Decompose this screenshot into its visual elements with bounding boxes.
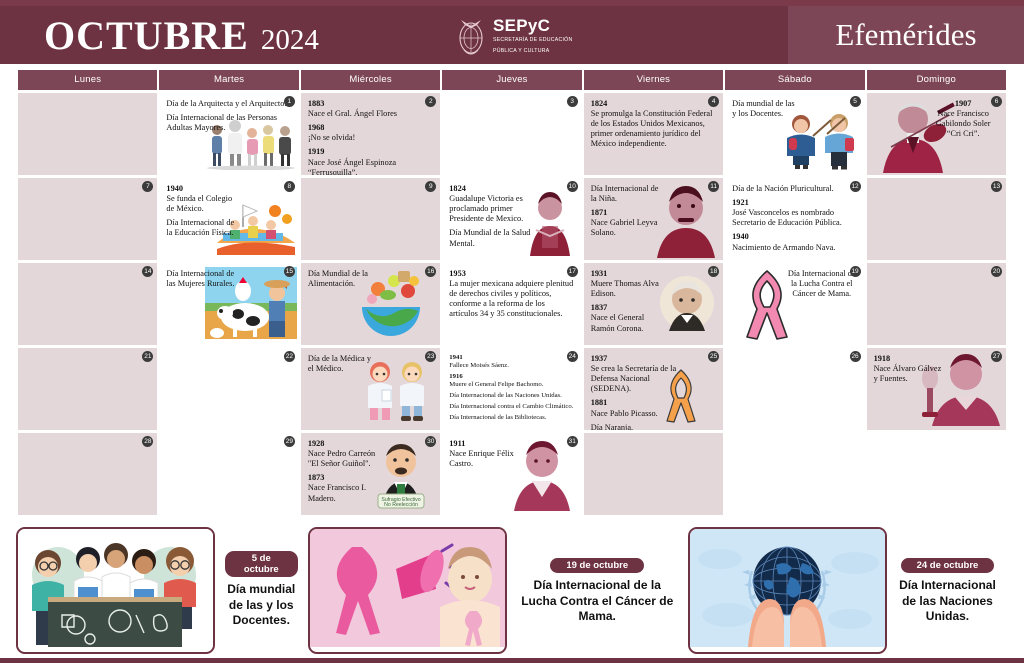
day-events-list: Día Internacional de las Mujeres Rurales…	[166, 269, 234, 289]
day-number-badge: 9	[425, 181, 436, 192]
event-text: Nace el General Ramón Corona.	[591, 313, 659, 333]
calendar-day-cell-19[interactable]: 19 Día Internacional de la Lucha Contra …	[725, 263, 864, 345]
day-number-badge: 8	[284, 181, 295, 192]
day-event: 1883Nace el Gral. Ángel Flores	[308, 99, 432, 119]
banner-date-pill: 5 de octubre	[225, 551, 298, 577]
logo-acronym: SEPyC	[493, 17, 572, 34]
calendar-day-cell-31[interactable]: 31 1911Nace Enrique Félix Castro.	[442, 433, 581, 515]
calendar-week-row: 1415 Día Internacional de las Mujeres Ru…	[18, 263, 1006, 345]
calendar-week-row: 282930 Sufragio Efectivo No Reelección19…	[18, 433, 1006, 515]
event-text: Día Naranja.	[591, 423, 681, 430]
calendar-day-cell-18[interactable]: 18 1931Muere Thomas Alva Edison.1837Nace…	[584, 263, 723, 345]
day-number-badge: 1	[284, 96, 295, 107]
day-number-badge: 3	[567, 96, 578, 107]
calendar-day-cell-8[interactable]: 8 1940Se funda el Colegio de México.Día …	[159, 178, 298, 260]
day-event: 1881Nace Pablo Picasso.	[591, 398, 681, 418]
calendar-day-cell-12[interactable]: 12Día de la Nación Pluricultural.1921Jos…	[725, 178, 864, 260]
event-text: Día de la Arquitecta y el Arquitecto.	[166, 99, 290, 109]
calendar-day-cell-13[interactable]: 13	[867, 178, 1006, 260]
event-year: 1953	[449, 269, 573, 279]
day-number-badge: 29	[284, 436, 295, 447]
breast-cancer-awareness-photo-image	[308, 527, 507, 654]
event-text: La mujer mexicana adquiere plenitud de d…	[449, 279, 573, 319]
day-events-list: 1931Muere Thomas Alva Edison.1837Nace el…	[591, 269, 659, 334]
day-number-badge: 24	[567, 351, 578, 362]
day-events-list: 1883Nace el Gral. Ángel Flores1968¡No se…	[308, 99, 432, 175]
calendar-day-cell-26[interactable]: 26	[725, 348, 864, 430]
event-text: ¡No se olvida!	[308, 133, 432, 143]
event-year: 1883	[308, 99, 432, 109]
calendar-day-cell-25[interactable]: 25 1937Se crea la Secretaría de la Defen…	[584, 348, 723, 430]
day-number-badge: 15	[284, 266, 295, 277]
weekday-header-viernes: Viernes	[584, 70, 723, 90]
calendar-day-cell-23[interactable]: 23 Día de la Médica y el Médico.	[301, 348, 440, 430]
calendar-day-cell-4[interactable]: 41824Se promulga la Constitución Federal…	[584, 93, 723, 175]
calendar-day-cell-2[interactable]: 21883Nace el Gral. Ángel Flores1968¡No s…	[301, 93, 440, 175]
banner-label: Día Internacional de las Naciones Unidas…	[897, 578, 998, 624]
calendar-page: OCTUBRE 2024 SEPyC SECRETARÍA DE EDUCACI…	[0, 0, 1024, 663]
event-year: 1940	[732, 232, 856, 242]
page-title: OCTUBRE	[44, 12, 249, 59]
event-text: Nace Pablo Picasso.	[591, 409, 681, 419]
event-year: 1873	[308, 473, 383, 483]
day-event: 1968¡No se olvida!	[308, 123, 432, 143]
event-text: Se funda el Colegio de México.	[166, 194, 234, 214]
day-number-badge: 17	[567, 266, 578, 277]
day-event: 1953La mujer mexicana adquiere plenitud …	[449, 269, 573, 320]
event-text: Día Internacional contra el Cambio Climá…	[449, 403, 573, 411]
section-title: Efemérides	[835, 17, 976, 53]
day-event: Día mundial de las y los Docentes.	[732, 99, 800, 119]
calendar-day-cell-7[interactable]: 7	[18, 178, 157, 260]
day-event: 1941Fallece Moisés Sáenz.	[449, 354, 573, 370]
day-events-list: 1941Fallece Moisés Sáenz.1916Muere el Ge…	[449, 354, 573, 422]
section-title-band: Efemérides	[788, 6, 1024, 64]
calendar-day-cell-16[interactable]: 16 Día Mundial de la Alimentación.	[301, 263, 440, 345]
day-events-list: 1918Nace Álvaro Gálvez y Fuentes.	[874, 354, 942, 384]
calendar-day-cell-11[interactable]: 11 Día Internacional de la Niña.1871Nace…	[584, 178, 723, 260]
day-number-badge: 12	[850, 181, 861, 192]
banner-text-block: 24 de octubreDía Internacional de las Na…	[887, 555, 1008, 624]
calendar-day-cell-29[interactable]: 29	[159, 433, 298, 515]
day-event: Día Internacional de las Naciones Unidas…	[449, 392, 573, 400]
event-text: Día Internacional de las Bibliotecas.	[449, 414, 573, 422]
event-text: Día Internacional de la Educación Física…	[166, 218, 234, 238]
day-number-badge: 20	[991, 266, 1002, 277]
event-year: 1911	[449, 439, 517, 449]
event-year: 1941	[449, 354, 573, 362]
calendar-day-cell-5[interactable]: 5 Día mundial de las y los Docentes.	[725, 93, 864, 175]
event-text: Nace Pedro Carreón "El Señor Guiñol".	[308, 449, 383, 469]
event-text: Fallece Moisés Sáenz.	[449, 362, 573, 370]
day-number-badge: 21	[142, 351, 153, 362]
event-year: 1907	[928, 99, 998, 109]
day-events-list: 1911Nace Enrique Félix Castro.	[449, 439, 517, 469]
day-number-badge: 18	[708, 266, 719, 277]
event-text: Nace José Ángel Espinoza “Ferrusquilla”.	[308, 158, 432, 175]
day-number-badge: 27	[991, 351, 1002, 362]
day-event: 1916Muere el General Felipe Bachomo.	[449, 373, 573, 389]
calendar-day-cell-empty[interactable]	[725, 433, 864, 515]
calendar-day-cell-22[interactable]: 22	[159, 348, 298, 430]
day-events-list: Día de la Arquitecta y el Arquitecto.Día…	[166, 99, 290, 133]
highlight-banner: 5 de octubreDía mundial de las y los Doc…	[0, 517, 1024, 663]
event-text: Día mundial de las y los Docentes.	[732, 99, 800, 119]
event-text: Día Internacional de las Personas Adulta…	[166, 113, 290, 133]
day-event: 1824Se promulga la Constitución Federal …	[591, 99, 715, 150]
day-event: Día Internacional de la Niña.	[591, 184, 659, 204]
banner-date-pill: 24 de octubre	[901, 558, 995, 573]
day-events-list: Día Mundial de la Alimentación.	[308, 269, 376, 289]
event-text: Día de la Nación Pluricultural.	[732, 184, 856, 194]
teachers-classroom-photo-image	[16, 527, 215, 654]
day-event: 1911Nace Enrique Félix Castro.	[449, 439, 517, 469]
day-event: Día de la Médica y el Médico.	[308, 354, 376, 374]
event-text: Nace Enrique Félix Castro.	[449, 449, 517, 469]
day-event: Día de la Arquitecta y el Arquitecto.	[166, 99, 290, 109]
day-event: Día Internacional de las Mujeres Rurales…	[166, 269, 234, 289]
day-event: 1940Se funda el Colegio de México.	[166, 184, 234, 214]
page-header: OCTUBRE 2024 SEPyC SECRETARÍA DE EDUCACI…	[0, 6, 1024, 64]
calendar-grid: LunesMartesMiércolesJuevesViernesSábadoD…	[18, 70, 1006, 515]
day-number-badge: 7	[142, 181, 153, 192]
calendar-day-cell-empty[interactable]	[584, 433, 723, 515]
event-text: Nace Gabriel Leyva Solano.	[591, 218, 659, 238]
bottom-accent-bar	[0, 658, 1024, 663]
event-year: 1968	[308, 123, 432, 133]
day-events-list: 1907Nace Francisco Gabilondo Soler “Cri …	[928, 99, 998, 139]
event-text: Muere Thomas Alva Edison.	[591, 279, 659, 299]
event-year: 1824	[449, 184, 539, 194]
day-number-badge: 10	[567, 181, 578, 192]
day-event: 1873Nace Francisco I. Madero.	[308, 473, 383, 503]
event-text: Muere el General Felipe Bachomo.	[449, 381, 573, 389]
day-number-badge: 25	[708, 351, 719, 362]
day-events-list: 1824Se promulga la Constitución Federal …	[591, 99, 715, 150]
weekday-header-sábado: Sábado	[725, 70, 864, 90]
event-year: 1916	[449, 373, 573, 381]
event-year: 1928	[308, 439, 383, 449]
logo-subtitle-line1: SECRETARÍA DE EDUCACIÓN	[493, 37, 572, 45]
day-event: 1928Nace Pedro Carreón "El Señor Guiñol"…	[308, 439, 383, 469]
banner-label: Día mundial de las y los Docentes.	[225, 582, 298, 628]
month-title-group: OCTUBRE 2024	[44, 12, 319, 59]
event-text: Día Internacional de la Niña.	[591, 184, 659, 204]
event-text: Día de la Médica y el Médico.	[308, 354, 376, 374]
day-event: Día Internacional de la Educación Física…	[166, 218, 234, 238]
event-text: Día Mundial de la Salud Mental.	[449, 228, 539, 248]
day-event: Día Internacional contra el Cambio Climá…	[449, 403, 573, 411]
event-year: 1871	[591, 208, 659, 218]
event-text: Nacimiento de Armando Nava.	[732, 243, 856, 253]
day-event: Día Internacional de las Personas Adulta…	[166, 113, 290, 133]
event-text: Se crea la Secretaría de la Defensa Naci…	[591, 364, 681, 394]
day-events-list: Día Internacional de la Lucha Contra el …	[787, 269, 857, 299]
day-event: 1940Nacimiento de Armando Nava.	[732, 232, 856, 252]
event-year: 1931	[591, 269, 659, 279]
day-events-list: Día de la Médica y el Médico.	[308, 354, 376, 374]
day-number-badge: 14	[142, 266, 153, 277]
logo-subtitle-line2: PÚBLICA Y CULTURA	[493, 48, 572, 56]
calendar-day-cell-17[interactable]: 171953La mujer mexicana adquiere plenitu…	[442, 263, 581, 345]
day-events-list: 1928Nace Pedro Carreón "El Señor Guiñol"…	[308, 439, 383, 504]
weekday-header-lunes: Lunes	[18, 70, 157, 90]
weekday-header-row: LunesMartesMiércolesJuevesViernesSábadoD…	[18, 70, 1006, 90]
event-year: 1921	[732, 198, 856, 208]
logo-text-block: SEPyC SECRETARÍA DE EDUCACIÓN PÚBLICA Y …	[493, 17, 572, 56]
calendar-day-cell-3[interactable]: 3	[442, 93, 581, 175]
calendar-day-cell-9[interactable]: 9	[301, 178, 440, 260]
weekday-header-miércoles: Miércoles	[301, 70, 440, 90]
day-number-badge: 16	[425, 266, 436, 277]
event-year: 1940	[166, 184, 234, 194]
calendar-day-cell-1[interactable]: 1 Día de la Arquitecta y el Arquitecto.D…	[159, 93, 298, 175]
banner-label: Día Internacional de la Lucha Contra el …	[517, 578, 678, 624]
event-text: Día Internacional de las Naciones Unidas…	[449, 392, 573, 400]
event-year: 1824	[591, 99, 715, 109]
day-events-list: 1940Se funda el Colegio de México.Día In…	[166, 184, 234, 239]
calendar-week-row: 1 Día de la Arquitecta y el Arquitecto.D…	[18, 93, 1006, 175]
day-events-list: 1953La mujer mexicana adquiere plenitud …	[449, 269, 573, 320]
day-event: Día de la Nación Pluricultural.	[732, 184, 856, 194]
day-events-list: 1824Guadalupe Victoria es proclamado pri…	[449, 184, 539, 249]
event-year: 1918	[874, 354, 942, 364]
day-event: Día Mundial de la Salud Mental.	[449, 228, 539, 248]
day-event: 1871Nace Gabriel Leyva Solano.	[591, 208, 659, 238]
day-events-list: 1937Se crea la Secretaría de la Defensa …	[591, 354, 681, 430]
sepyc-logo: SEPyC SECRETARÍA DE EDUCACIÓN PÚBLICA Y …	[455, 14, 572, 58]
eagle-shield-icon	[455, 14, 487, 58]
calendar-day-cell-empty[interactable]	[18, 93, 157, 175]
calendar-day-cell-14[interactable]: 14	[18, 263, 157, 345]
day-number-badge: 6	[991, 96, 1002, 107]
banner-date-pill: 19 de octubre	[550, 558, 644, 573]
day-event: 1824Guadalupe Victoria es proclamado pri…	[449, 184, 539, 224]
event-text: Se promulga la Constitución Federal de l…	[591, 109, 715, 149]
calendar-day-cell-20[interactable]: 20	[867, 263, 1006, 345]
calendar-day-cell-27[interactable]: 27 1918Nace Álvaro Gálvez y Fuentes.	[867, 348, 1006, 430]
day-number-badge: 13	[991, 181, 1002, 192]
calendar-day-cell-6[interactable]: 6 1907Nace Francisco Gabilondo Soler “Cr…	[867, 93, 1006, 175]
event-text: Nace Francisco I. Madero.	[308, 483, 383, 503]
day-event: 1918Nace Álvaro Gálvez y Fuentes.	[874, 354, 942, 384]
day-number-badge: 5	[850, 96, 861, 107]
calendar-day-cell-30[interactable]: 30 Sufragio Efectivo No Reelección1928Na…	[301, 433, 440, 515]
day-number-badge: 22	[284, 351, 295, 362]
banner-highlight-item: 19 de octubreDía Internacional de la Luc…	[308, 527, 688, 654]
event-text: José Vasconcelos es nombrado Secretario …	[732, 208, 856, 228]
day-event: 1921José Vasconcelos es nombrado Secreta…	[732, 198, 856, 228]
event-year: 1837	[591, 303, 659, 313]
event-text: Nace Francisco Gabilondo Soler “Cri Cri”…	[928, 109, 998, 139]
event-text: Nace el Gral. Ángel Flores	[308, 109, 432, 119]
banner-highlight-item: 5 de octubreDía mundial de las y los Doc…	[16, 527, 308, 654]
day-event: Día Mundial de la Alimentación.	[308, 269, 376, 289]
calendar-day-cell-24[interactable]: 241941Fallece Moisés Sáenz.1916Muere el …	[442, 348, 581, 430]
event-text: Día Internacional de las Mujeres Rurales…	[166, 269, 234, 289]
day-events-list: Día mundial de las y los Docentes.	[732, 99, 800, 119]
day-number-badge: 2	[425, 96, 436, 107]
weekday-header-domingo: Domingo	[867, 70, 1006, 90]
day-events-list: Día de la Nación Pluricultural.1921José …	[732, 184, 856, 253]
day-event: 1907Nace Francisco Gabilondo Soler “Cri …	[928, 99, 998, 139]
event-text: Día Mundial de la Alimentación.	[308, 269, 376, 289]
day-event: 1919Nace José Ángel Espinoza “Ferrusquil…	[308, 147, 432, 175]
calendar-day-cell-15[interactable]: 15 Día Internacional de las Mujeres Rura…	[159, 263, 298, 345]
calendar-day-cell-21[interactable]: 21	[18, 348, 157, 430]
day-event: 1931Muere Thomas Alva Edison.	[591, 269, 659, 299]
event-year: 1937	[591, 354, 681, 364]
day-number-badge: 31	[567, 436, 578, 447]
event-text: Día Internacional de la Lucha Contra el …	[787, 269, 857, 299]
year-label: 2024	[261, 24, 319, 57]
day-event: 1937Se crea la Secretaría de la Defensa …	[591, 354, 681, 394]
day-event: Día Naranja.	[591, 423, 681, 430]
united-nations-globe-photo-image	[688, 527, 887, 654]
event-year: 1919	[308, 147, 432, 157]
day-number-badge: 26	[850, 351, 861, 362]
day-number-badge: 28	[142, 436, 153, 447]
banner-highlight-item: 24 de octubreDía Internacional de las Na…	[688, 527, 1008, 654]
weekday-header-martes: Martes	[159, 70, 298, 90]
event-text: Guadalupe Victoria es proclamado primer …	[449, 194, 539, 224]
day-number-badge: 4	[708, 96, 719, 107]
calendar-week-row: 212223 Día de la Médica y el Médico.2419…	[18, 348, 1006, 430]
day-number-badge: 23	[425, 351, 436, 362]
event-year: 1881	[591, 398, 681, 408]
day-events-list: Día Internacional de la Niña.1871Nace Ga…	[591, 184, 659, 239]
calendar-week-row: 78 1940Se funda el Colegio de México.Día…	[18, 178, 1006, 260]
event-text: Nace Álvaro Gálvez y Fuentes.	[874, 364, 942, 384]
weekday-header-jueves: Jueves	[442, 70, 581, 90]
day-event: Día Internacional de las Bibliotecas.	[449, 414, 573, 422]
day-number-badge: 19	[850, 266, 861, 277]
banner-text-block: 5 de octubreDía mundial de las y los Doc…	[215, 551, 308, 628]
calendar-day-cell-28[interactable]: 28	[18, 433, 157, 515]
day-event: Día Internacional de la Lucha Contra el …	[787, 269, 857, 299]
day-event: 1837Nace el General Ramón Corona.	[591, 303, 659, 333]
banner-text-block: 19 de octubreDía Internacional de la Luc…	[507, 555, 688, 624]
calendar-day-cell-empty[interactable]	[867, 433, 1006, 515]
calendar-day-cell-10[interactable]: 10 1824Guadalupe Victoria es proclamado …	[442, 178, 581, 260]
